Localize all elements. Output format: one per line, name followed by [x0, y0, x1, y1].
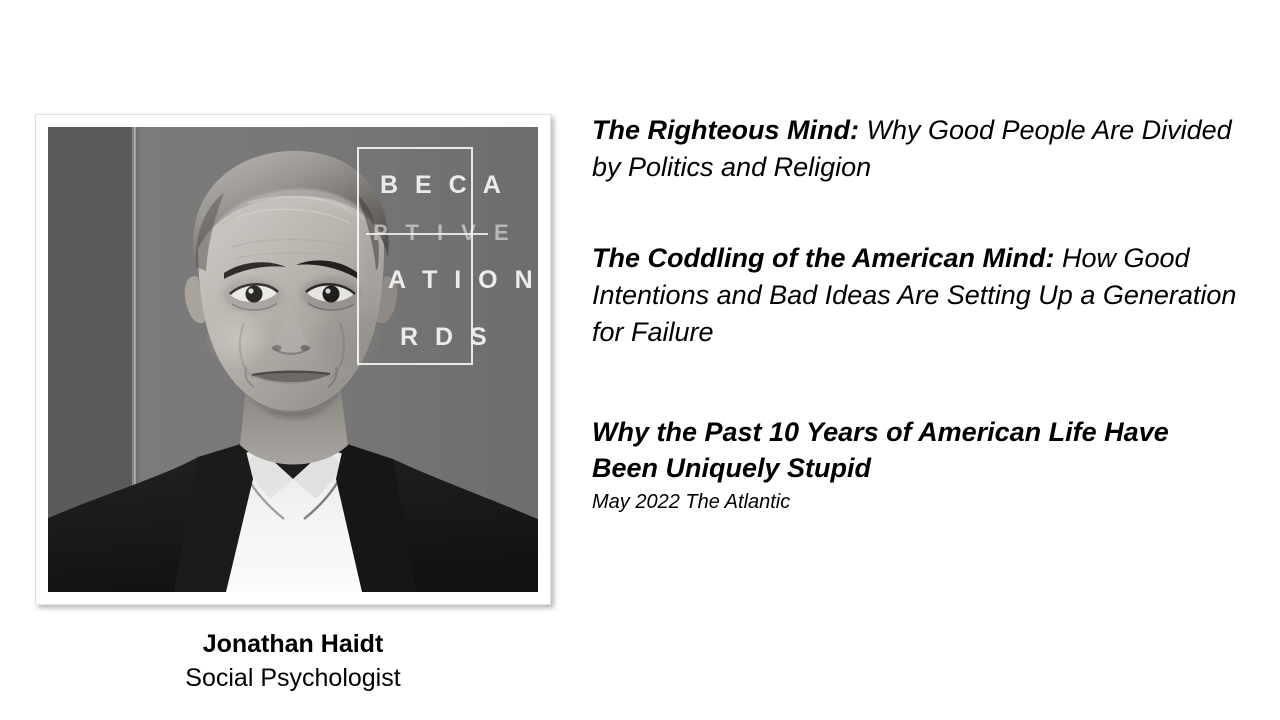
- person-role: Social Psychologist: [35, 662, 551, 695]
- backdrop-outline: [357, 147, 473, 365]
- work-title: The Righteous Mind: Why Good People Are …: [592, 112, 1237, 185]
- works-list: The Righteous Mind: Why Good People Are …: [592, 112, 1237, 515]
- work-title-lead: Why the Past 10 Years of American Life H…: [592, 417, 1169, 484]
- portrait-block: B E C A P T I V E A T I O N R D S Jonath…: [35, 114, 551, 695]
- work-title: The Coddling of the American Mind: How G…: [592, 240, 1237, 350]
- portrait-frame: B E C A P T I V E A T I O N R D S: [35, 114, 551, 605]
- person-name: Jonathan Haidt: [35, 629, 551, 660]
- slide-canvas: B E C A P T I V E A T I O N R D S Jonath…: [0, 0, 1280, 720]
- work-title-lead: The Righteous Mind:: [592, 115, 859, 145]
- work-item: Why the Past 10 Years of American Life H…: [592, 414, 1237, 515]
- work-source: May 2022 The Atlantic: [592, 489, 1237, 515]
- portrait-caption: Jonathan Haidt Social Psychologist: [35, 629, 551, 695]
- work-title-lead: The Coddling of the American Mind:: [592, 243, 1054, 273]
- portrait-photo: B E C A P T I V E A T I O N R D S: [48, 127, 538, 592]
- backdrop-strikethrough: [366, 233, 488, 235]
- work-item: The Coddling of the American Mind: How G…: [592, 240, 1237, 350]
- work-item: The Righteous Mind: Why Good People Are …: [592, 112, 1237, 185]
- work-title: Why the Past 10 Years of American Life H…: [592, 414, 1237, 487]
